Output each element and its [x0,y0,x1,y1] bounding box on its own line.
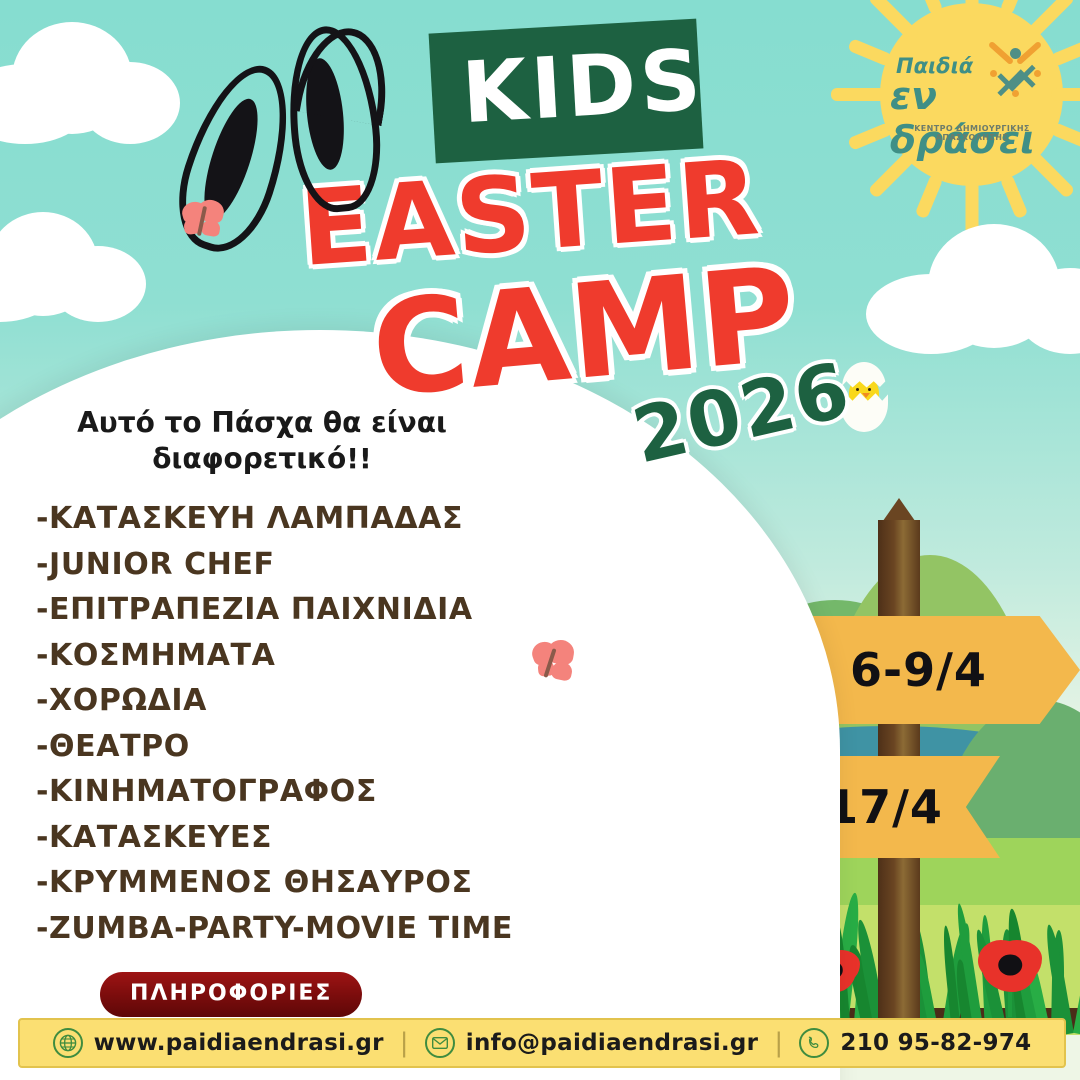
phone-item[interactable]: 210 95-82-974 [799,1028,1031,1058]
sun-ray [915,173,944,219]
butterfly-top-left-icon [180,200,226,242]
website-item[interactable]: www.paidiaendrasi.gr [53,1028,384,1058]
poppy-flower-right [982,942,1038,992]
activity-item: -ΚΙΝΗΜΑΤΟΓΡΑΦΟΣ [36,769,513,815]
info-button[interactable]: ΠΛΗΡΟΦΟΡΙΕΣ [100,972,362,1017]
sun-ray [847,122,893,151]
logo-figure-icon [984,48,1048,104]
activity-item: -ΚΡΥΜΜΕΝΟΣ ΘΗΣΑΥΡΟΣ [36,860,513,906]
activity-item: -ΕΠΙΤΡΑΠΕΖΙΑ ΠΑΙΧΝΙΔΙΑ [36,587,513,633]
activity-item: -ΚΟΣΜΗΜΑΤΑ [36,633,513,679]
activity-item: -ΧΟΡΩΔΙΑ [36,678,513,724]
activity-item: -ΚΑΤΑΣΚΕΥΗ ΛΑΜΠΑΔΑΣ [36,496,513,542]
sun-ray [867,0,920,43]
cloud-top-right [866,222,1080,352]
email-label: info@paidiaendrasi.gr [466,1030,759,1056]
email-item[interactable]: info@paidiaendrasi.gr [425,1028,759,1058]
activity-item: -ΘΕΑΤΡΟ [36,724,513,770]
activity-item: -ΚΑΤΑΣΚΕΥΕΣ [36,815,513,861]
footer-divider-1: | [400,1028,409,1058]
sun-ray [1023,0,1076,43]
date-sign-upper-label: 6-9/4 [850,643,987,697]
envelope-icon [425,1028,455,1058]
phone-label: 210 95-82-974 [840,1030,1031,1056]
logo: Παιδιά εν δράσει ΚΕΝΤΡΟ ΔΗΜΙΟΥΡΓΙΚΗΣ ΑΠΑ… [888,48,1060,152]
kids-title: KIDS [459,32,684,142]
activity-list: -ΚΑΤΑΣΚΕΥΗ ΛΑΜΠΑΔΑΣ-JUNIOR CHEF-ΕΠΙΤΡΑΠΕ… [36,496,513,951]
logo-subtitle: ΚΕΝΤΡΟ ΔΗΜΙΟΥΡΓΙΚΗΣ ΑΠΑΣΧΟΛΗΣΗΣ [892,124,1052,142]
globe-icon [53,1028,83,1058]
website-label: www.paidiaendrasi.gr [94,1030,384,1056]
phone-icon [799,1028,829,1058]
footer-divider-2: | [774,1028,783,1058]
activity-item: -JUNIOR CHEF [36,542,513,588]
activity-item: -ZUMBA-PARTY-MOVIE TIME [36,906,513,952]
easter-camp-poster: 6-9/4 15-17/4 KIDS EASTER CAMP 2026 [0,0,1080,1080]
cloud-top-left [0,22,190,142]
sun-ray [965,0,978,16]
cloud-mid-left [0,210,160,320]
sun-ray [999,173,1028,219]
contact-footer: www.paidiaendrasi.gr | info@paidiaendras… [18,1018,1066,1068]
sun-ray [831,88,893,101]
subtitle: Αυτό το Πάσχα θα είναι διαφορετικό!! [62,405,462,477]
butterfly-center-icon [532,640,578,684]
sun-ray [847,38,893,67]
